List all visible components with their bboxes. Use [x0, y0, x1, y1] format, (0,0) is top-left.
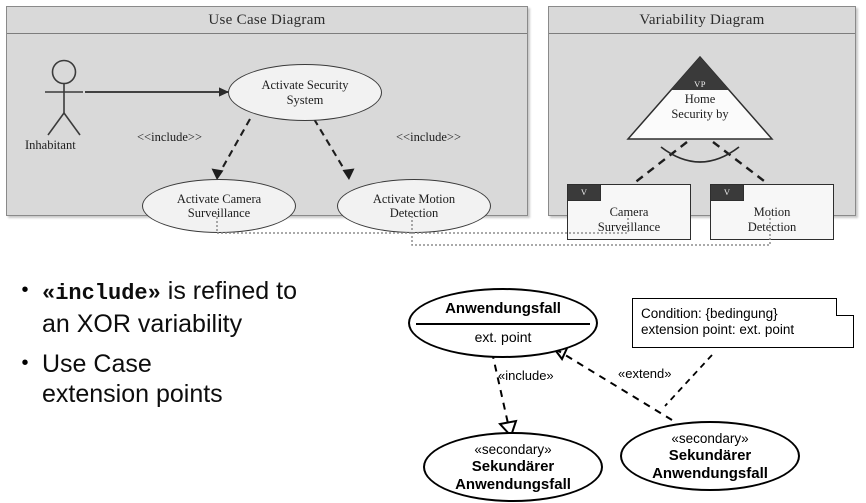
- use-case-name: Sekundärer: [425, 458, 601, 475]
- use-case-anwendungsfall[interactable]: Anwendungsfall ext. point: [408, 288, 598, 358]
- stereotype: «secondary»: [622, 431, 798, 446]
- use-case-secondary-left[interactable]: «secondary» Sekundärer Anwendungsfall: [423, 432, 603, 502]
- extension-point-label: ext. point: [410, 329, 596, 345]
- note-fold-corner: [836, 298, 854, 316]
- note-line2: extension point: ext. point: [641, 322, 845, 338]
- use-case-name: Sekundärer: [622, 447, 798, 464]
- use-case-name-line2: Anwendungsfall: [622, 465, 798, 482]
- use-case-name-line2: Anwendungsfall: [425, 476, 601, 493]
- stereotype: «secondary»: [425, 442, 601, 457]
- condition-note[interactable]: Condition: {bedingung} extension point: …: [632, 298, 854, 348]
- slide-canvas: Use Case Diagram: [0, 0, 866, 503]
- use-case-secondary-right[interactable]: «secondary» Sekundärer Anwendungsfall: [620, 421, 800, 491]
- extend-relation-label: «extend»: [618, 366, 672, 381]
- note-line1: Condition: {bedingung}: [641, 306, 845, 322]
- use-case-name: Anwendungsfall: [410, 300, 596, 317]
- include-relation-label: «include»: [498, 368, 554, 383]
- compartment-divider: [416, 323, 590, 325]
